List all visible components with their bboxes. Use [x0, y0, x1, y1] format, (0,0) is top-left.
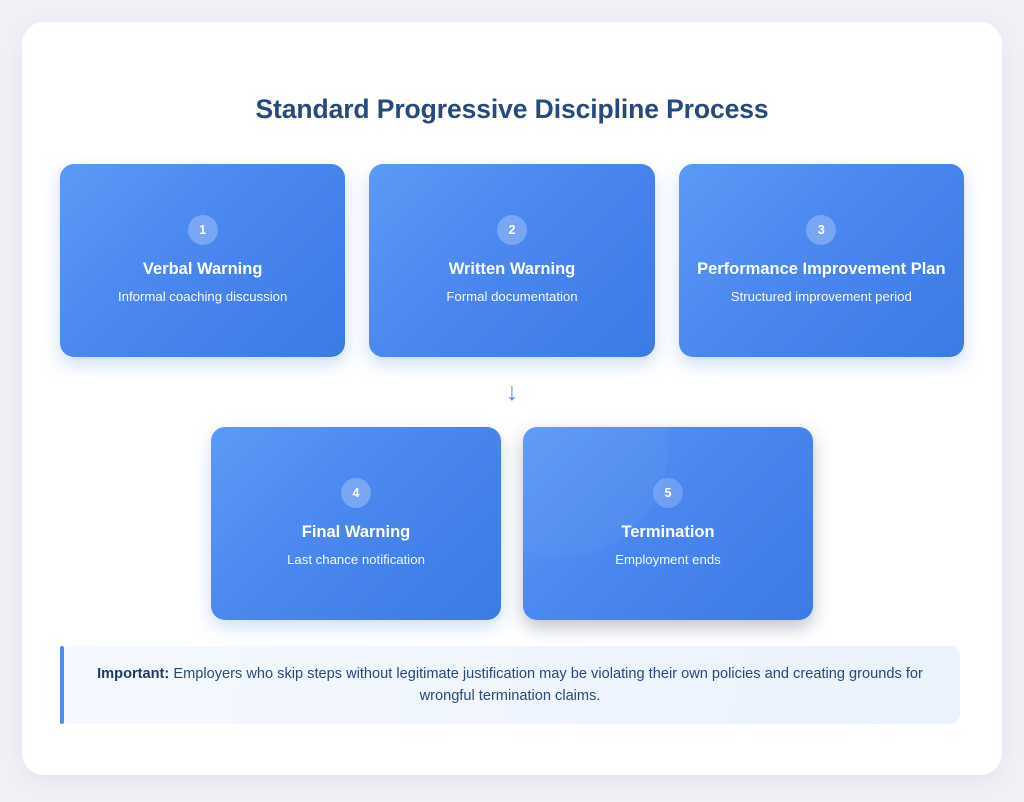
step-description: Structured improvement period — [731, 288, 912, 305]
step-number-badge: 3 — [806, 215, 836, 245]
step-description: Last chance notification — [287, 551, 425, 568]
step-number-label: 4 — [353, 486, 360, 500]
step-title: Termination — [621, 522, 714, 542]
step-card-3[interactable]: 3 Performance Improvement Plan Structure… — [679, 164, 964, 357]
step-number-badge: 4 — [341, 478, 371, 508]
step-card-5[interactable]: 5 Termination Employment ends — [523, 427, 813, 620]
important-note: Important: Employers who skip steps with… — [60, 646, 960, 724]
step-number-label: 2 — [509, 223, 516, 237]
step-number-label: 1 — [199, 223, 206, 237]
note-label: Important: — [97, 666, 169, 682]
step-description: Formal documentation — [446, 288, 577, 305]
step-card-2[interactable]: 2 Written Warning Formal documentation — [369, 164, 654, 357]
step-card-1[interactable]: 1 Verbal Warning Informal coaching discu… — [60, 164, 345, 357]
step-number-badge: 2 — [497, 215, 527, 245]
step-number-badge: 5 — [653, 478, 683, 508]
diagram-panel: Standard Progressive Discipline Process … — [22, 22, 1002, 775]
note-text: Important: Employers who skip steps with… — [90, 663, 930, 707]
step-description: Employment ends — [615, 551, 721, 568]
note-body: Employers who skip steps without legitim… — [169, 666, 923, 704]
note-accent-bar — [60, 646, 64, 724]
step-number-badge: 1 — [188, 215, 218, 245]
step-number-label: 3 — [818, 223, 825, 237]
page-title: Standard Progressive Discipline Process — [22, 94, 1002, 125]
arrow-down-icon: ↓ — [22, 380, 1002, 405]
step-description: Informal coaching discussion — [118, 288, 287, 305]
step-title: Verbal Warning — [143, 259, 263, 279]
step-title: Performance Improvement Plan — [697, 259, 946, 279]
step-title: Written Warning — [449, 259, 576, 279]
step-title: Final Warning — [302, 522, 410, 542]
step-row-2: 4 Final Warning Last chance notification… — [211, 427, 813, 620]
step-number-label: 5 — [665, 486, 672, 500]
step-card-4[interactable]: 4 Final Warning Last chance notification — [211, 427, 501, 620]
step-row-1: 1 Verbal Warning Informal coaching discu… — [60, 164, 964, 357]
